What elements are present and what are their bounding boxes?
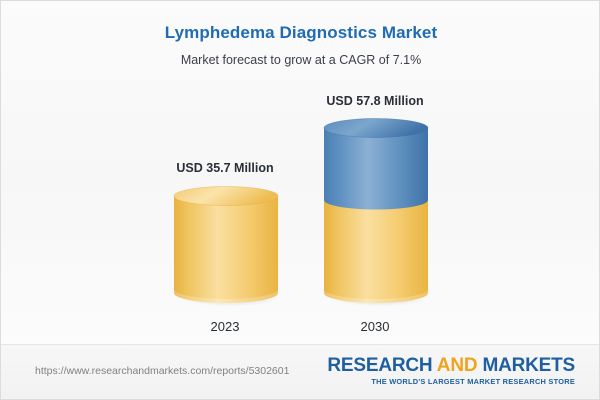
report-url[interactable]: https://www.researchandmarkets.com/repor… [35, 365, 289, 377]
logo-tagline: THE WORLD'S LARGEST MARKET RESEARCH STOR… [327, 378, 575, 385]
bar-cylinder-2030 [322, 118, 430, 308]
logo-word-research: RESEARCH [327, 355, 436, 376]
research-and-markets-logo: RESEARCH AND MARKETS THE WORLD'S LARGEST… [327, 356, 575, 385]
chart-plot-area: USD 35.7 Million USD 57.8 Million 2023 2… [1, 1, 600, 346]
category-label-2023: 2023 [145, 319, 305, 334]
bar-cylinder-2023 [172, 186, 280, 308]
chart-card: Lymphedema Diagnostics Market Market for… [0, 0, 600, 400]
category-label-2030: 2030 [295, 319, 455, 334]
logo-word-markets: MARKETS [482, 355, 575, 376]
value-label-2023: USD 35.7 Million [145, 161, 305, 175]
logo-wordmark: RESEARCH AND MARKETS [327, 356, 575, 375]
value-label-2030: USD 57.8 Million [295, 94, 455, 108]
logo-word-and: AND [437, 355, 483, 376]
chart-footer: https://www.researchandmarkets.com/repor… [1, 344, 600, 399]
